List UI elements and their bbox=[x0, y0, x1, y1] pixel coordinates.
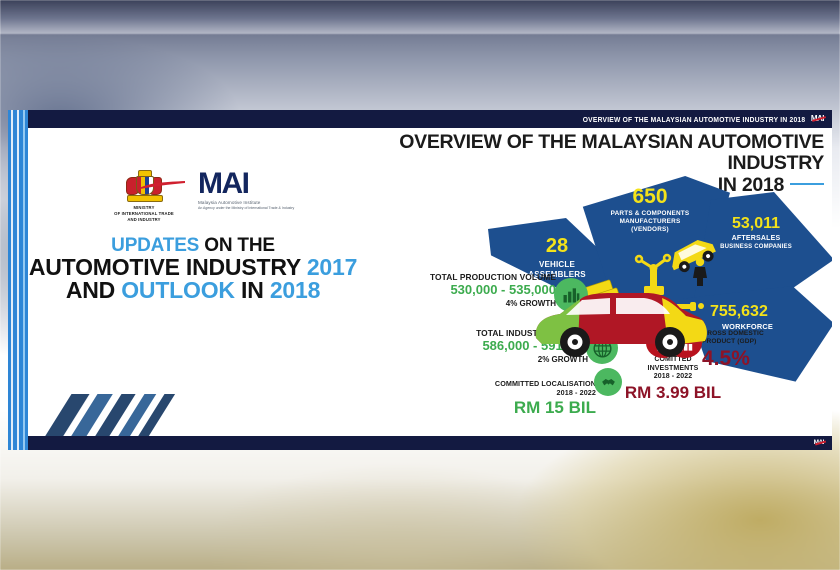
infographic-header-bar: OVERVIEW OF THE MALAYSIAN AUTOMOTIVE IND… bbox=[28, 110, 832, 128]
left-headline: UPDATES ON THE AUTOMOTIVE INDUSTRY 2017 … bbox=[28, 236, 358, 303]
headline-line-3: AND OUTLOOK IN 2018 bbox=[28, 279, 358, 303]
miti-logo: MINISTRY OF INTERNATIONAL TRADE AND INDU… bbox=[108, 170, 180, 223]
mai-tagline: An Agency under the Ministry of Internat… bbox=[198, 206, 318, 211]
metric-3-value: RM 15 BIL bbox=[416, 399, 596, 418]
metric-5-caption-1: GROSS DOMESTIC bbox=[702, 330, 822, 338]
headline-2018: 2018 bbox=[270, 277, 320, 303]
headline-in: IN bbox=[235, 277, 270, 303]
headline-and: AND bbox=[66, 277, 121, 303]
metric-committed-localisation[interactable]: COMMITTED LOCALISATION 2018 - 2022 RM 15… bbox=[416, 380, 596, 417]
headline-2017: 2017 bbox=[307, 254, 357, 280]
metric-gdp[interactable]: GROSS DOMESTIC PRODUCT (GDP) 4.5% bbox=[702, 330, 822, 370]
footer-mai-logo-icon: MAI bbox=[814, 440, 824, 447]
mai-subtitle: Malaysia Automotive Institute bbox=[198, 200, 318, 205]
main-title-line-1: OVERVIEW OF THE MALAYSIAN AUTOMOTIVE IND… bbox=[399, 131, 824, 174]
headline-automotive-industry: AUTOMOTIVE INDUSTRY bbox=[29, 254, 307, 280]
infographic-chart-zone: OVERVIEW OF THE MALAYSIAN AUTOMOTIVE IND… bbox=[358, 128, 832, 450]
miti-line3: AND INDUSTRY bbox=[108, 217, 180, 223]
metric-1-caption: TOTAL PRODUCTION VOLUME bbox=[366, 272, 556, 282]
metric-1-note: 4% GROWTH bbox=[366, 299, 556, 308]
header-bar-title: OVERVIEW OF THE MALAYSIAN AUTOMOTIVE IND… bbox=[582, 115, 805, 124]
infographic-footer-bar: MAI bbox=[28, 436, 832, 450]
metric-4-value: RM 3.99 BIL bbox=[608, 384, 738, 403]
hatchback-car-illustration bbox=[530, 286, 710, 366]
wedge-1-label-1: VEHICLE bbox=[502, 260, 612, 270]
metric-5-caption-2: PRODUCT (GDP) bbox=[702, 338, 822, 346]
malaysia-coat-of-arms-icon bbox=[124, 170, 164, 202]
metric-1-value: 530,000 - 535,000 bbox=[366, 283, 556, 297]
left-blue-stripe-column bbox=[8, 110, 28, 450]
wedge-workforce-text: 755,632 WORKFORCE bbox=[710, 304, 828, 331]
wedge-2-value: 650 bbox=[580, 186, 720, 207]
metric-3-caption-2: 2018 - 2022 bbox=[416, 389, 596, 398]
mai-wordmark: MAI bbox=[198, 170, 249, 197]
headline-line-2: AUTOMOTIVE INDUSTRY 2017 bbox=[28, 256, 358, 280]
metric-total-production-volume[interactable]: TOTAL PRODUCTION VOLUME 530,000 - 535,00… bbox=[366, 272, 556, 308]
metric-4-caption-3: 2018 - 2022 bbox=[608, 373, 738, 382]
infographic-panel: OVERVIEW OF THE MALAYSIAN AUTOMOTIVE IND… bbox=[8, 110, 832, 450]
wedge-1-value: 28 bbox=[502, 236, 612, 256]
logo-row: MINISTRY OF INTERNATIONAL TRADE AND INDU… bbox=[108, 170, 318, 223]
left-title-zone: MINISTRY OF INTERNATIONAL TRADE AND INDU… bbox=[28, 128, 358, 450]
backdrop-top-gradient bbox=[0, 0, 840, 34]
mai-logo-icon: MAI bbox=[811, 115, 824, 123]
miti-logo-text: MINISTRY OF INTERNATIONAL TRADE AND INDU… bbox=[108, 205, 180, 223]
mai-logo: MAI Malaysia Automotive Institute An Age… bbox=[198, 170, 318, 211]
headline-outlook: OUTLOOK bbox=[121, 277, 235, 303]
service-car-icon bbox=[664, 230, 728, 290]
wedge-4-value: 755,632 bbox=[710, 304, 828, 320]
metric-5-value: 4.5% bbox=[702, 347, 822, 370]
